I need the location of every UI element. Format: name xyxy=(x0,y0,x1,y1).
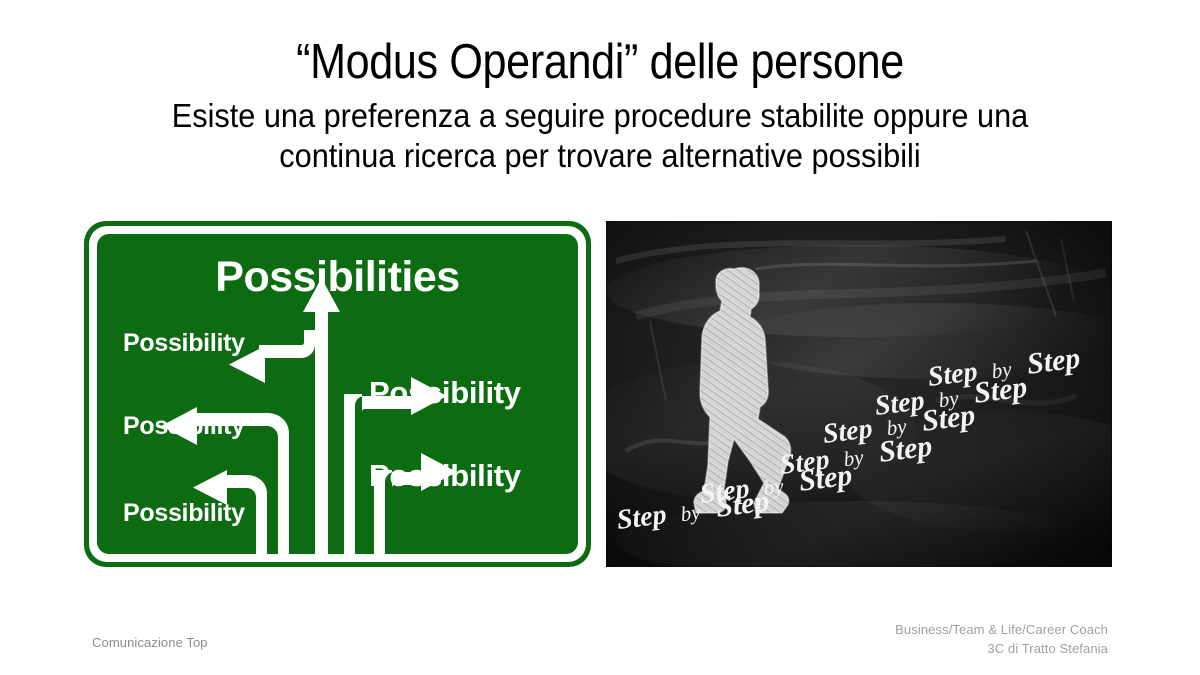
slide-canvas: “Modus Operandi” delle persone Esiste un… xyxy=(0,0,1200,675)
sign-face: Possibilities Possibility Possibility Po… xyxy=(97,234,578,554)
footer-right-line-2: 3C di Tratto Stefania xyxy=(895,639,1108,658)
svg-text:Step: Step xyxy=(926,356,979,393)
footer-right: Business/Team & Life/Career Coach 3C di … xyxy=(895,620,1108,658)
step-by-step-chalkboard: Step by Step Step by Step Step by Step S… xyxy=(606,221,1112,567)
possibilities-road-sign: Possibilities Possibility Possibility Po… xyxy=(84,221,591,567)
svg-text:Step: Step xyxy=(778,444,831,481)
svg-text:Step: Step xyxy=(1025,342,1082,381)
arrow-left-bottom-icon xyxy=(193,470,267,554)
svg-text:by: by xyxy=(679,500,702,526)
footer-left: Comunicazione Top xyxy=(92,635,208,650)
svg-text:Step: Step xyxy=(615,499,668,536)
svg-text:Step: Step xyxy=(821,413,874,450)
svg-text:by: by xyxy=(990,357,1013,383)
road-arrows-diagram xyxy=(97,234,578,554)
svg-text:Step: Step xyxy=(873,385,926,422)
arrow-right-bottom-icon xyxy=(374,453,457,554)
title-block: “Modus Operandi” delle persone Esiste un… xyxy=(0,34,1200,176)
chalkboard-illustration: Step by Step Step by Step Step by Step S… xyxy=(606,221,1112,567)
page-title: “Modus Operandi” delle persone xyxy=(72,34,1128,90)
svg-text:by: by xyxy=(842,445,865,471)
footer-right-line-1: Business/Team & Life/Career Coach xyxy=(895,620,1108,639)
arrow-up-icon xyxy=(303,278,340,554)
page-subtitle: Esiste una preferenza a seguire procedur… xyxy=(130,96,1069,176)
svg-text:Step: Step xyxy=(698,473,751,510)
arrow-left-top-icon xyxy=(229,330,315,383)
